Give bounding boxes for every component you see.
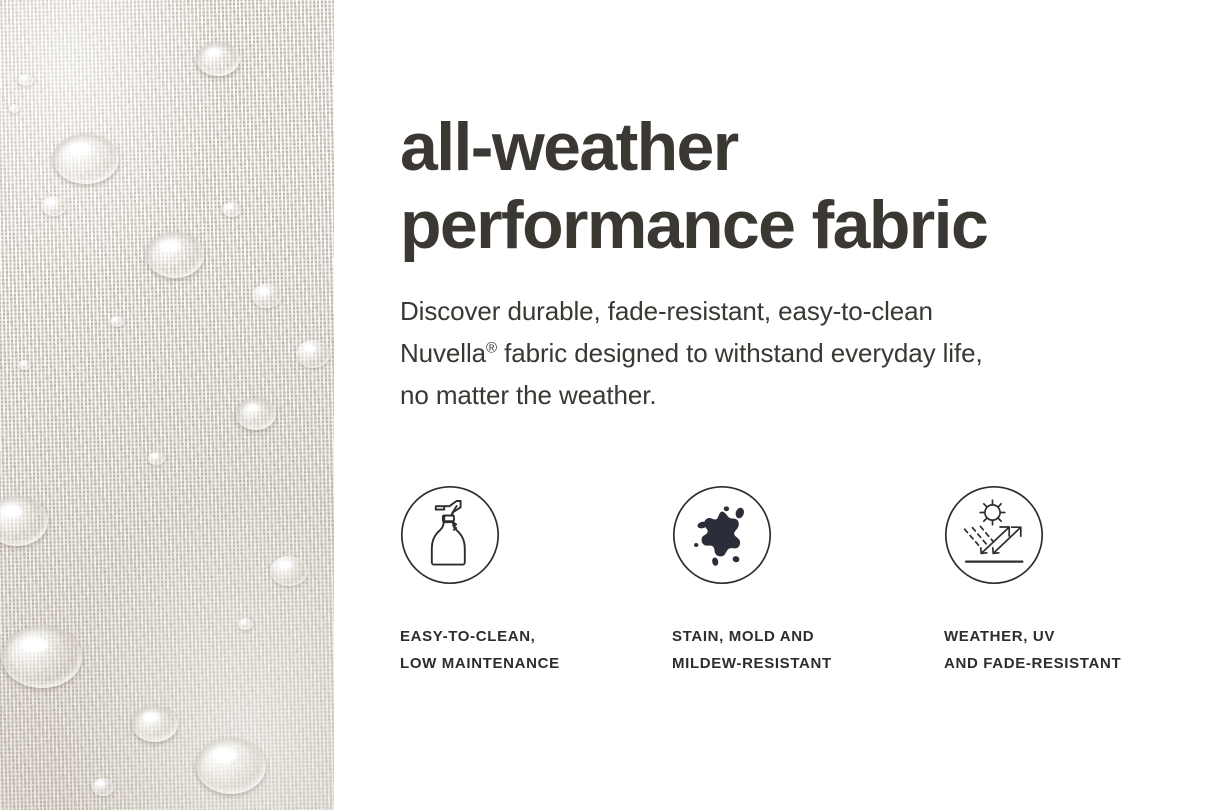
fabric-lighting-overlay: [0, 0, 334, 810]
water-droplet: [296, 340, 330, 368]
water-droplet: [236, 398, 276, 430]
subcopy-line-1: Discover durable, fade-resistant, easy-t…: [400, 290, 1160, 332]
water-droplet: [238, 618, 253, 630]
feature-caption-line-1: EASY-TO-CLEAN,: [400, 623, 672, 650]
feature-item-stain-resistant: STAIN, MOLD AND MILDEW-RESISTANT: [672, 485, 944, 677]
feature-caption: EASY-TO-CLEAN, LOW MAINTENANCE: [400, 623, 672, 677]
water-droplet: [148, 452, 165, 465]
sun-uv-reflect-icon: [944, 485, 1044, 585]
subcopy-line-3: no matter the weather.: [400, 374, 1160, 416]
feature-caption: STAIN, MOLD AND MILDEW-RESISTANT: [672, 623, 944, 677]
page-title: all-weather performance fabric: [400, 108, 1200, 264]
feature-list: EASY-TO-CLEAN, LOW MAINTENANCE: [400, 485, 1190, 677]
feature-caption: WEATHER, UV AND FADE-RESISTANT: [944, 623, 1194, 677]
spray-bottle-icon: [400, 485, 500, 585]
water-droplet: [196, 42, 240, 76]
feature-item-weather-uv-resistant: WEATHER, UV AND FADE-RESISTANT: [944, 485, 1194, 677]
content-panel: all-weather performance fabric Discover …: [334, 0, 1214, 810]
water-droplet: [92, 778, 114, 796]
feature-caption-line-2: AND FADE-RESISTANT: [944, 650, 1194, 677]
feature-caption-line-2: MILDEW-RESISTANT: [672, 650, 944, 677]
water-droplet: [252, 284, 282, 308]
registered-trademark-mark: ®: [486, 339, 497, 356]
water-droplet: [110, 316, 124, 327]
water-droplet: [18, 74, 34, 86]
water-droplet: [132, 706, 178, 742]
fabric-photo: [0, 0, 334, 810]
water-droplet: [196, 738, 266, 794]
water-droplet: [270, 556, 308, 586]
subcopy-line-2-rest: fabric designed to withstand everyday li…: [497, 338, 983, 368]
water-droplet: [41, 196, 67, 216]
water-droplet: [222, 202, 241, 217]
stain-splatter-icon: [672, 485, 772, 585]
subcopy-line-2: Nuvella® fabric designed to withstand ev…: [400, 332, 1160, 374]
water-droplet: [18, 360, 31, 370]
feature-caption-line-1: WEATHER, UV: [944, 623, 1194, 650]
feature-item-easy-to-clean: EASY-TO-CLEAN, LOW MAINTENANCE: [400, 485, 672, 677]
water-droplet: [53, 134, 119, 184]
water-droplet: [9, 104, 20, 113]
subcopy: Discover durable, fade-resistant, easy-t…: [400, 290, 1160, 416]
water-droplet: [2, 626, 82, 688]
water-droplet: [146, 232, 204, 278]
headline-line-2: performance fabric: [400, 186, 1200, 264]
headline-line-1: all-weather: [400, 108, 1200, 186]
feature-caption-line-1: STAIN, MOLD AND: [672, 623, 944, 650]
promo-banner: all-weather performance fabric Discover …: [0, 0, 1214, 810]
brand-name: Nuvella: [400, 338, 486, 368]
feature-caption-line-2: LOW MAINTENANCE: [400, 650, 672, 677]
